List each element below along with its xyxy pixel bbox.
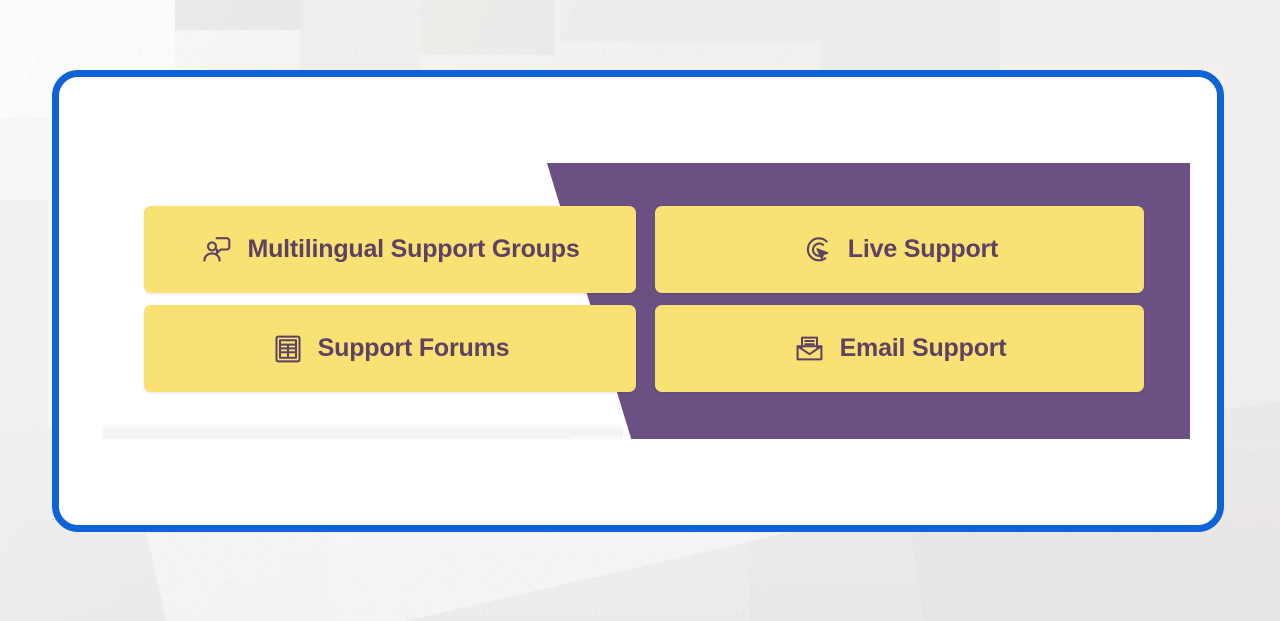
email-support-button[interactable]: Email Support — [655, 305, 1144, 392]
person-speech-bubble-icon — [200, 233, 234, 267]
click-target-cursor-icon — [801, 233, 835, 267]
envelope-document-icon — [793, 332, 827, 366]
multilingual-support-groups-button[interactable]: Multilingual Support Groups — [144, 206, 636, 293]
card-bottom-strip-accent — [101, 429, 573, 439]
live-support-button[interactable]: Live Support — [655, 206, 1144, 293]
support-card: Multilingual Support Groups Suppo — [59, 77, 1217, 525]
multilingual-support-groups-label: Multilingual Support Groups — [247, 235, 579, 264]
support-forums-button[interactable]: Support Forums — [144, 305, 636, 392]
support-options-left-column: Multilingual Support Groups Suppo — [144, 206, 636, 392]
support-forums-label: Support Forums — [318, 334, 510, 363]
live-support-label: Live Support — [848, 235, 998, 264]
page-root: Multilingual Support Groups Suppo — [0, 0, 1280, 621]
email-support-label: Email Support — [840, 334, 1007, 363]
support-options-right-column: Live Support Email Support — [655, 206, 1144, 392]
blue-focus-outline: Multilingual Support Groups Suppo — [52, 70, 1224, 532]
forum-table-document-icon — [271, 332, 305, 366]
